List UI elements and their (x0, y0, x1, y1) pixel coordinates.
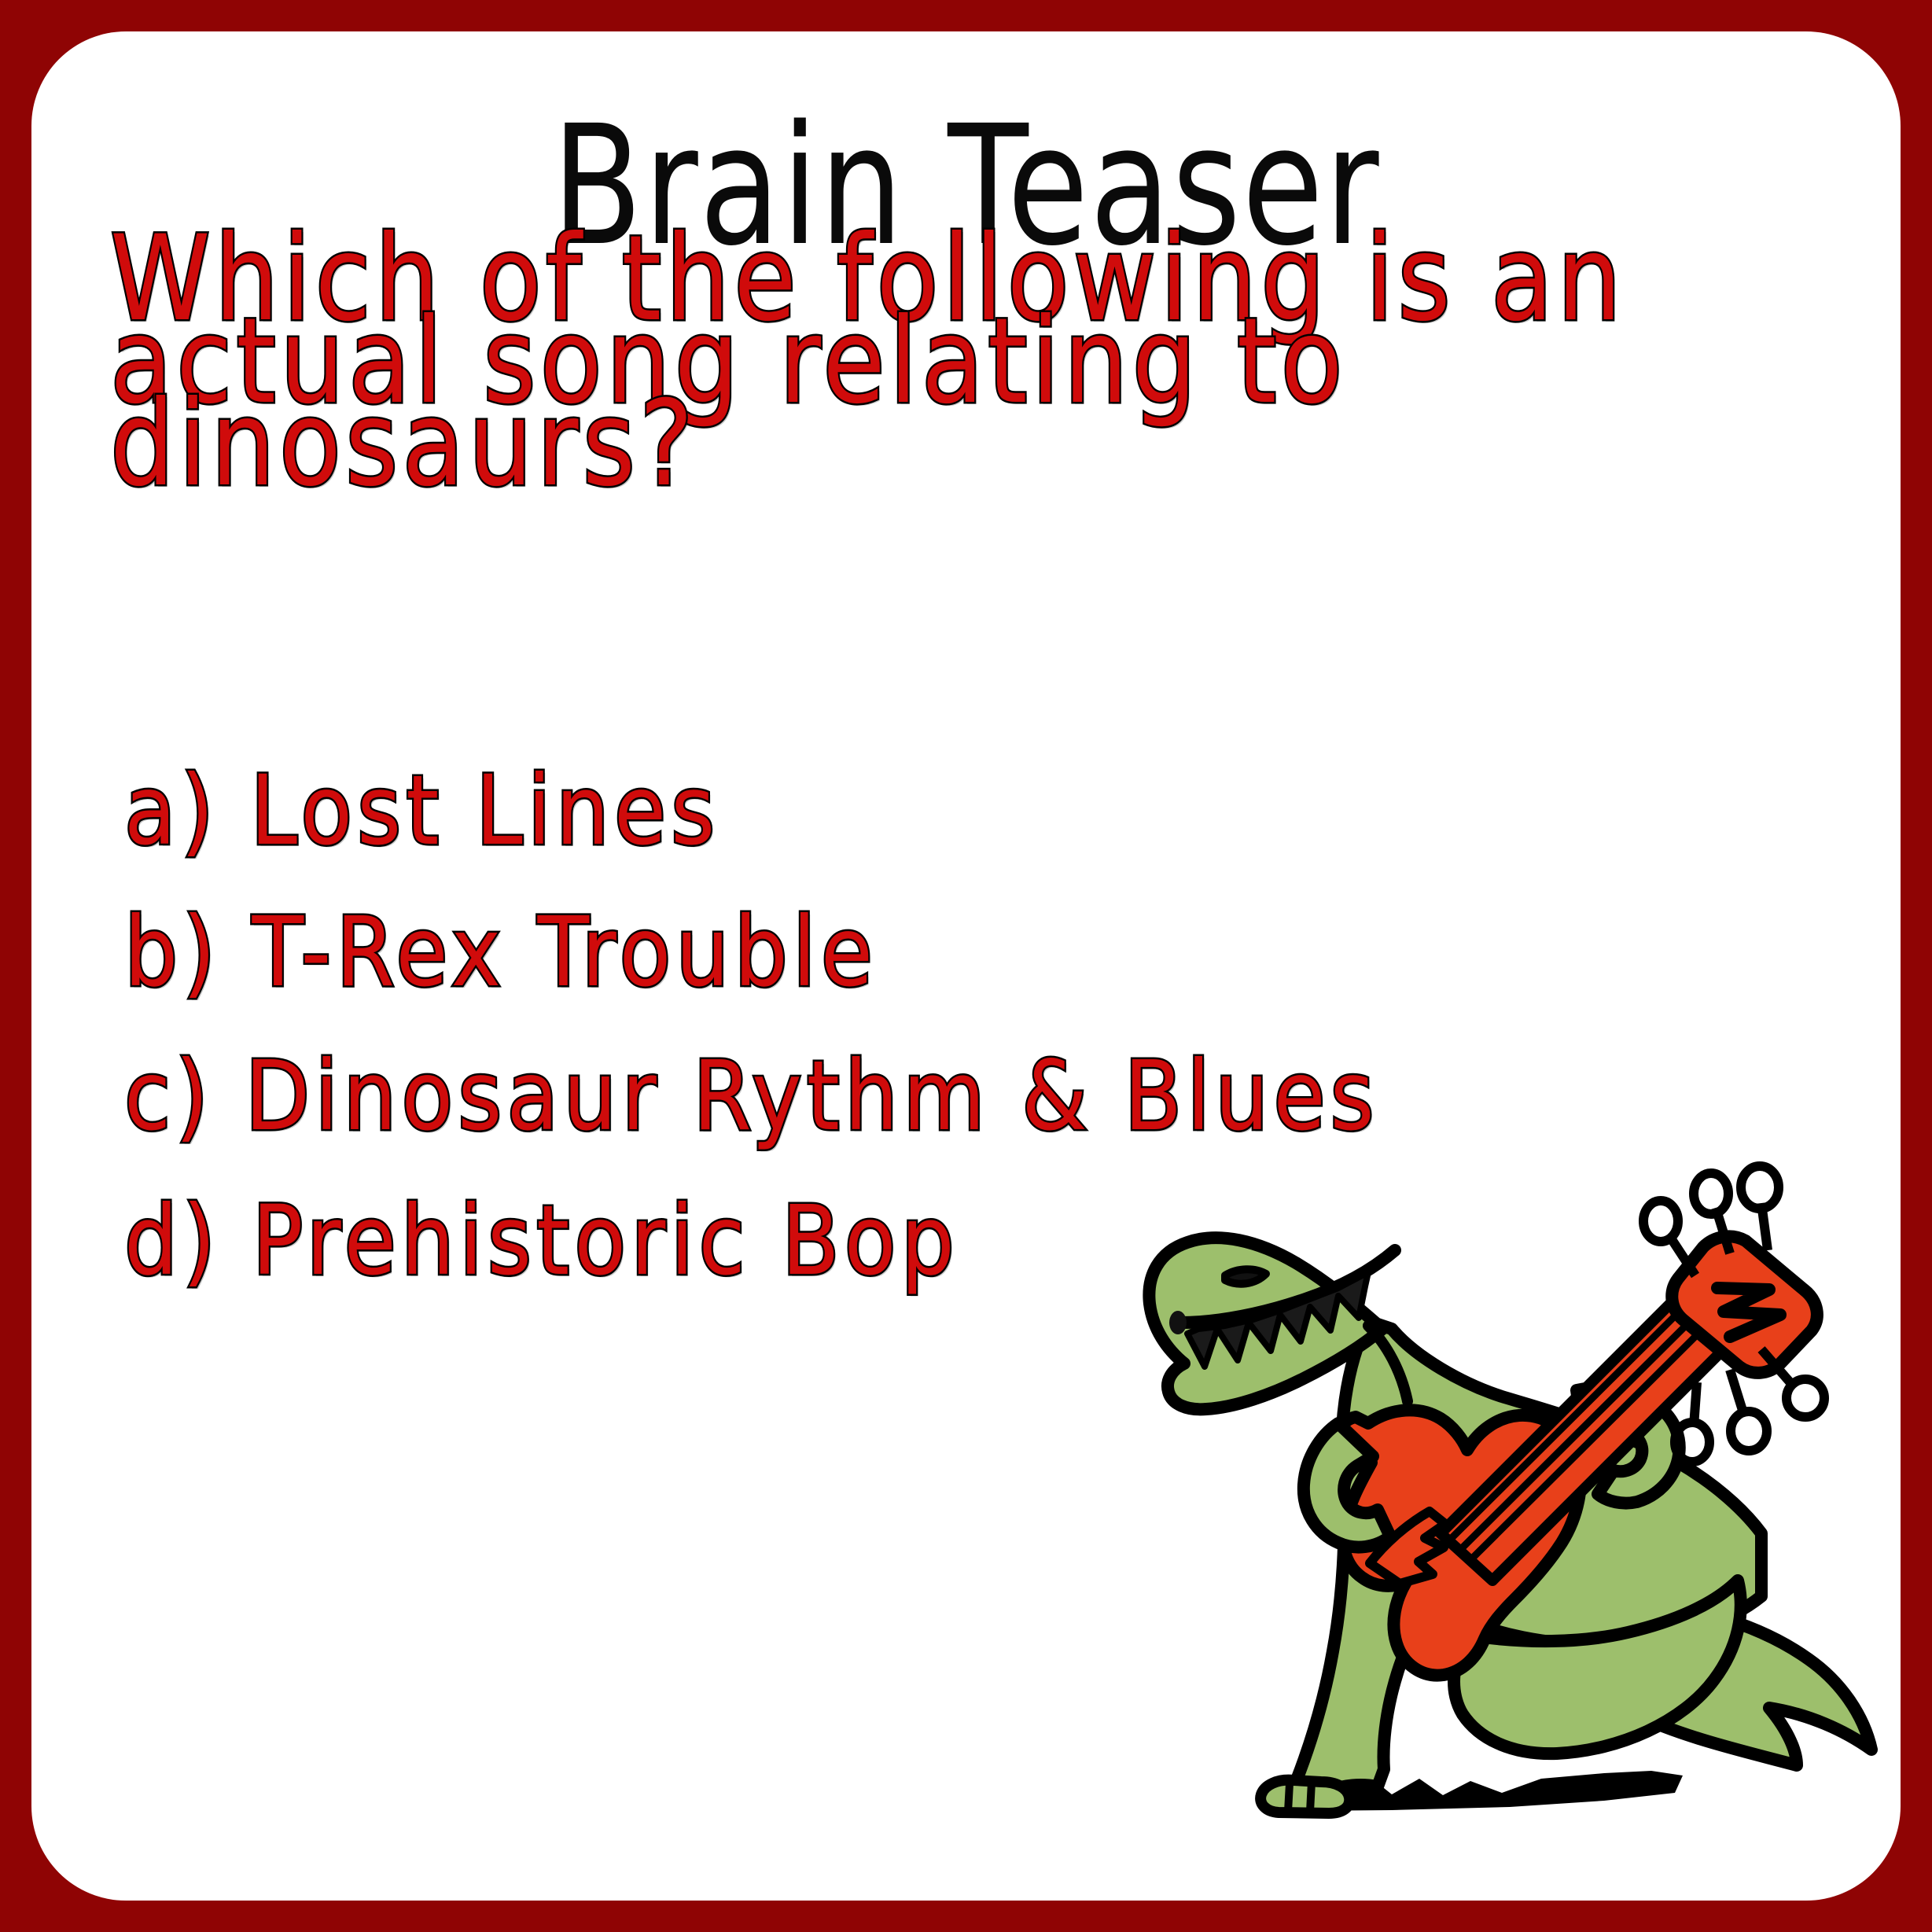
option-d[interactable]: d) Prehistoric Bop (124, 1193, 959, 1289)
white-card-panel: Brain Teaser Which of the following is a… (31, 31, 1901, 1901)
question-line-3: dinosaurs? (110, 385, 697, 503)
brain-teaser-card: Brain Teaser Which of the following is a… (0, 0, 1932, 1932)
dino-eye-icon (1225, 1269, 1266, 1283)
option-b[interactable]: b) T-Rex Trouble (124, 904, 878, 1000)
dino-foot (1260, 1780, 1349, 1813)
dino-nostril-icon (1169, 1311, 1187, 1334)
option-a[interactable]: a) Lost Lines (124, 763, 719, 859)
dinosaur-guitar-illustration (1132, 1093, 1901, 1879)
